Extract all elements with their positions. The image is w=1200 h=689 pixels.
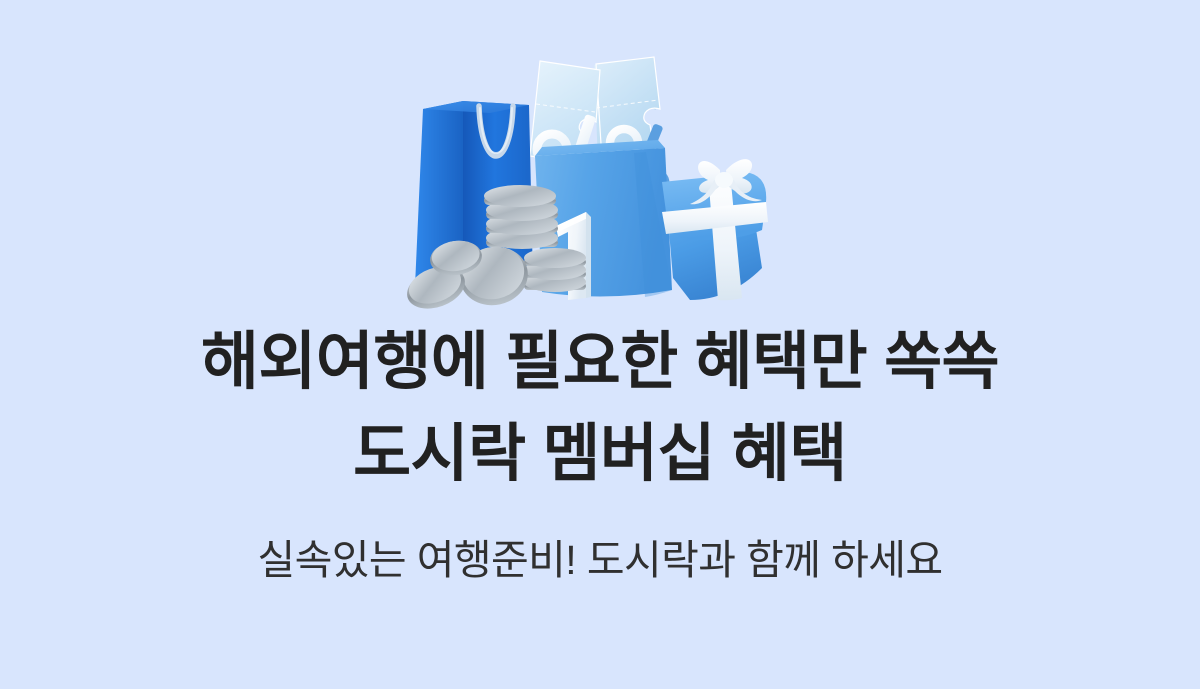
gift-box	[662, 159, 768, 300]
shopping-benefits-illustration-svg	[390, 52, 810, 314]
coin-stack-back	[484, 185, 558, 249]
page-subtitle: 실속있는 여행준비! 도시락과 함께 하세요	[0, 538, 1200, 583]
headline-line-1: 해외여행에 필요한 혜택만 쏙쏙	[0, 331, 1200, 394]
promo-banner: 해외여행에 필요한 혜택만 쏙쏙 도시락 멤버십 혜택 실속있는 여행준비! 도…	[0, 0, 1200, 689]
hero-illustration	[390, 52, 810, 314]
headline-line-2: 도시락 멤버십 혜택	[0, 423, 1200, 486]
page-title: 해외여행에 필요한 혜택만 쏙쏙 도시락 멤버십 혜택	[0, 314, 1200, 486]
coin-stack-right	[524, 248, 586, 292]
